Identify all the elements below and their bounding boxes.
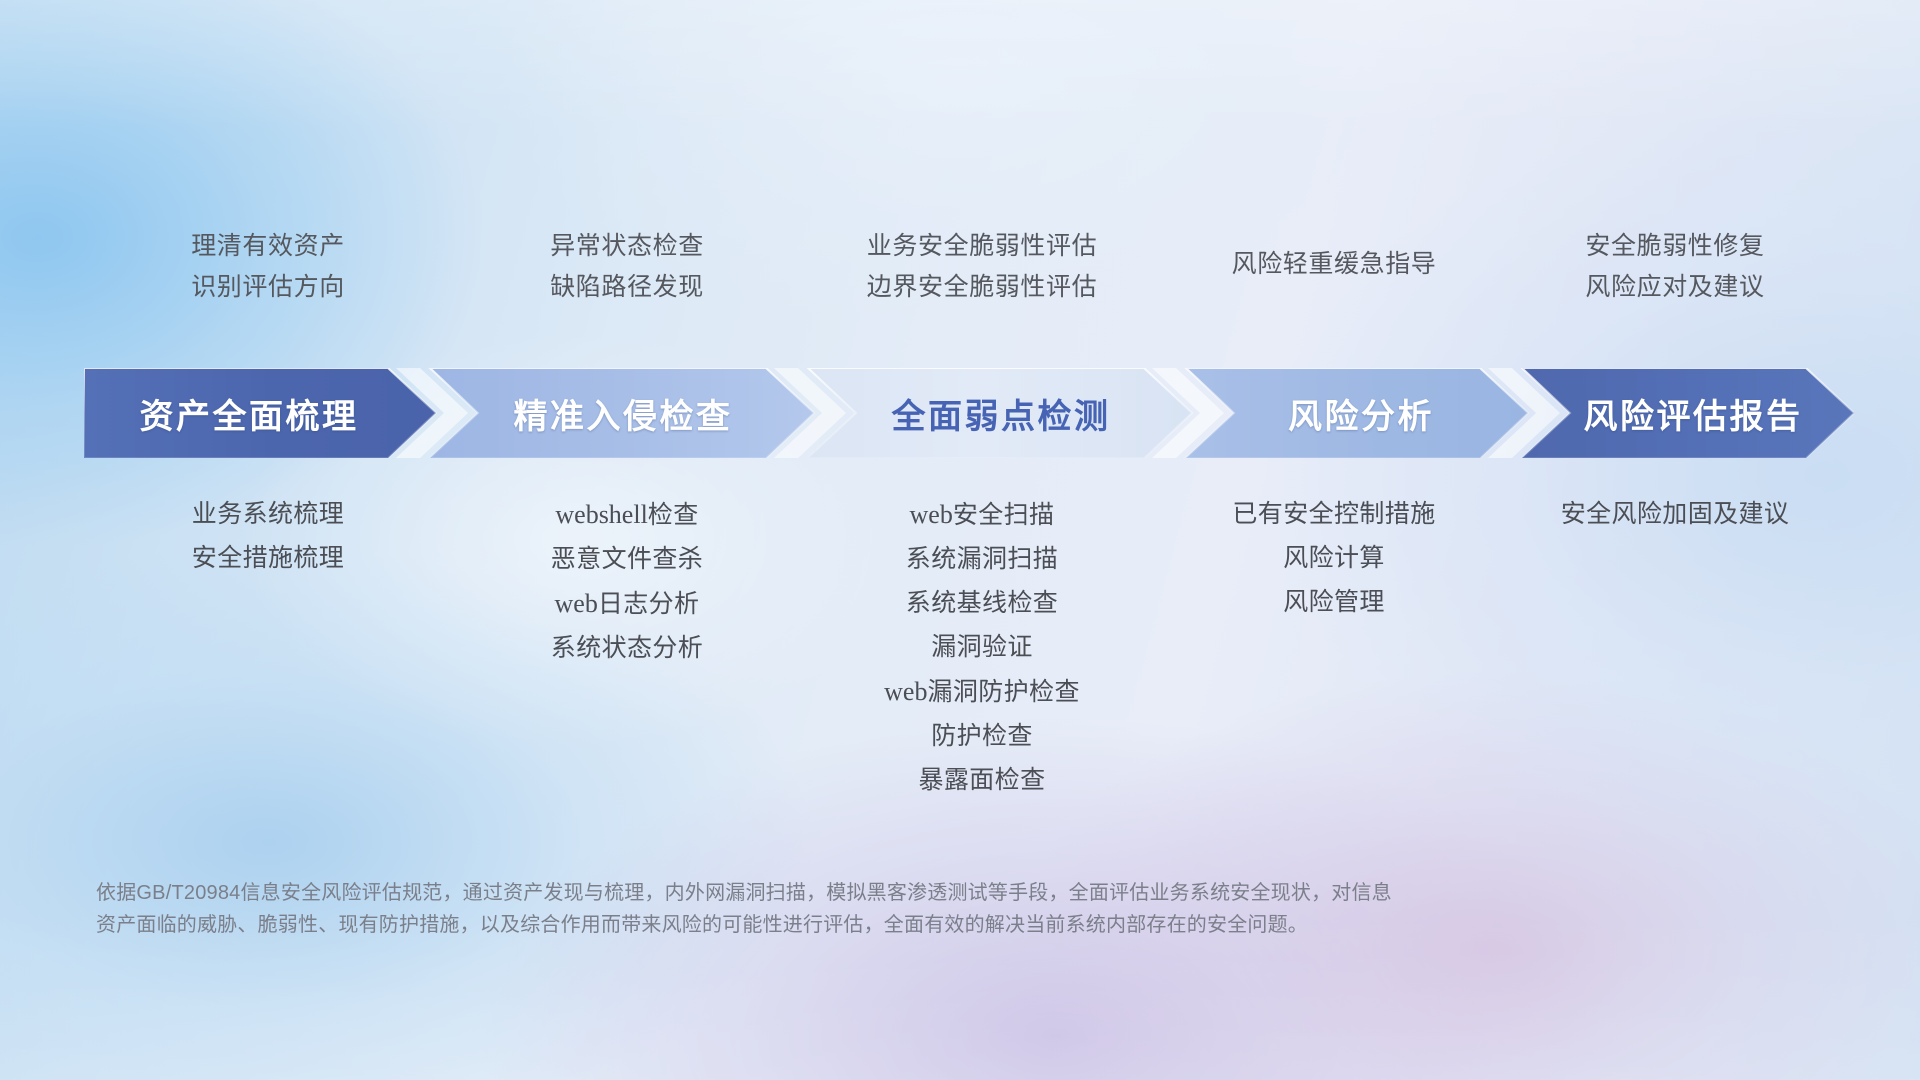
- slide-canvas: 理清有效资产 识别评估方向 异常状态检查 缺陷路径发现 业务安全脆弱性评估 边界…: [0, 0, 1920, 1080]
- list-item: 暴露面检查: [918, 766, 1045, 794]
- list-item: 安全风险加固及建议: [1561, 500, 1790, 528]
- list-item: 系统漏洞扫描: [906, 545, 1058, 573]
- arrow-shape-risk-analysis: [1186, 368, 1528, 458]
- list-item: 安全措施梳理: [192, 544, 344, 572]
- caption-line: 安全脆弱性修复: [1585, 232, 1764, 260]
- caption-line: 异常状态检查: [550, 232, 704, 260]
- list-item: 风险管理: [1283, 588, 1385, 616]
- list-item: webshell检查: [555, 500, 698, 529]
- top-captions-asset-inventory: 理清有效资产 识别评估方向: [84, 232, 452, 342]
- items-risk-analysis: 已有安全控制措施 风险计算 风险管理: [1162, 500, 1506, 794]
- list-item: 防护检查: [931, 722, 1033, 750]
- arrow-shape-intrusion-check: [430, 368, 814, 458]
- arrow-shape-weakness-detection: [808, 368, 1192, 458]
- items-intrusion-check: webshell检查 恶意文件查杀 web日志分析 系统状态分析: [452, 500, 802, 794]
- caption-line: 识别评估方向: [191, 273, 345, 301]
- items-weakness-detection: web安全扫描 系统漏洞扫描 系统基线检查 漏洞验证 web漏洞防护检查 防护检…: [802, 500, 1162, 794]
- process-arrow-band: 资产全面梳理 精准入侵检查 全面弱点检测 风险分析 风险评估报告: [84, 368, 1854, 458]
- list-item: web安全扫描: [910, 500, 1055, 529]
- list-item: web漏洞防护检查: [884, 677, 1080, 706]
- list-item: 系统状态分析: [551, 634, 703, 662]
- list-item: 漏洞验证: [931, 633, 1033, 661]
- slide-content: 理清有效资产 识别评估方向 异常状态检查 缺陷路径发现 业务安全脆弱性评估 边界…: [0, 0, 1920, 1080]
- top-captions-risk-report: 安全脆弱性修复 风险应对及建议: [1506, 232, 1844, 342]
- top-captions-intrusion-check: 异常状态检查 缺陷路径发现: [452, 232, 802, 342]
- footer-description: 依据GB/T20984信息安全风险评估规范，通过资产发现与梳理，内外网漏洞扫描，…: [96, 878, 1656, 941]
- arrow-shape-asset-inventory: [84, 368, 436, 458]
- bottom-item-row: 业务系统梳理 安全措施梳理 webshell检查 恶意文件查杀 web日志分析 …: [84, 500, 1854, 794]
- caption-line: 边界安全脆弱性评估: [867, 273, 1097, 301]
- caption-line: 业务安全脆弱性评估: [867, 232, 1097, 260]
- footer-line-1: 依据GB/T20984信息安全风险评估规范，通过资产发现与梳理，内外网漏洞扫描，…: [96, 878, 1656, 910]
- list-item: 风险计算: [1283, 544, 1385, 572]
- caption-line: 缺陷路径发现: [550, 273, 704, 301]
- list-item: 系统基线检查: [906, 589, 1058, 617]
- caption-line: 风险应对及建议: [1585, 273, 1764, 301]
- arrow-shape-risk-report: [1522, 368, 1854, 458]
- list-item: 业务系统梳理: [192, 500, 344, 528]
- top-caption-row: 理清有效资产 识别评估方向 异常状态检查 缺陷路径发现 业务安全脆弱性评估 边界…: [84, 232, 1844, 342]
- list-item: 已有安全控制措施: [1232, 500, 1435, 528]
- top-captions-weakness-detection: 业务安全脆弱性评估 边界安全脆弱性评估: [802, 232, 1162, 342]
- list-item: 恶意文件查杀: [551, 545, 703, 573]
- top-captions-risk-analysis: 风险轻重缓急指导: [1162, 232, 1506, 342]
- footer-line-2: 资产面临的威胁、脆弱性、现有防护措施，以及综合作用而带来风险的可能性进行评估，全…: [96, 910, 1656, 942]
- list-item: web日志分析: [555, 589, 700, 618]
- items-risk-report: 安全风险加固及建议: [1506, 500, 1844, 794]
- caption-line: 风险轻重缓急指导: [1232, 250, 1437, 278]
- items-asset-inventory: 业务系统梳理 安全措施梳理: [84, 500, 452, 794]
- caption-line: 理清有效资产: [191, 232, 345, 260]
